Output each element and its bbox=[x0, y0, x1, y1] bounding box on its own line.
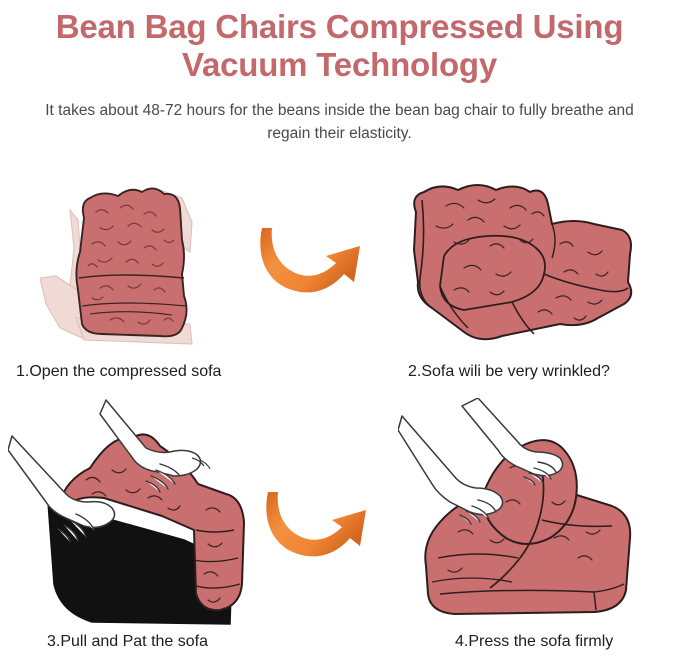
wrinkled-sofa-illustration bbox=[392, 178, 638, 350]
step-4-caption: 4.Press the sofa firmly bbox=[455, 633, 613, 651]
wrinkled-sofa-body bbox=[414, 185, 631, 339]
compressed-sofa-illustration bbox=[40, 178, 256, 350]
step-2-caption: 2.Sofa wili be very wrinkled? bbox=[408, 363, 610, 381]
curved-arrow-icon bbox=[256, 222, 378, 308]
header: Bean Bag Chairs Compressed Using Vacuum … bbox=[0, 0, 679, 145]
page-subtitle: It takes about 48-72 hours for the beans… bbox=[40, 99, 639, 146]
page-title: Bean Bag Chairs Compressed Using Vacuum … bbox=[14, 8, 665, 85]
step-1-caption: 1.Open the compressed sofa bbox=[16, 363, 221, 381]
curved-arrow-icon bbox=[262, 486, 384, 572]
press-sofa-illustration bbox=[398, 398, 652, 626]
step-3-caption: 3.Pull and Pat the sofa bbox=[47, 633, 208, 651]
pull-pat-sofa-illustration bbox=[8, 398, 262, 626]
compressed-sofa-body bbox=[76, 188, 186, 336]
